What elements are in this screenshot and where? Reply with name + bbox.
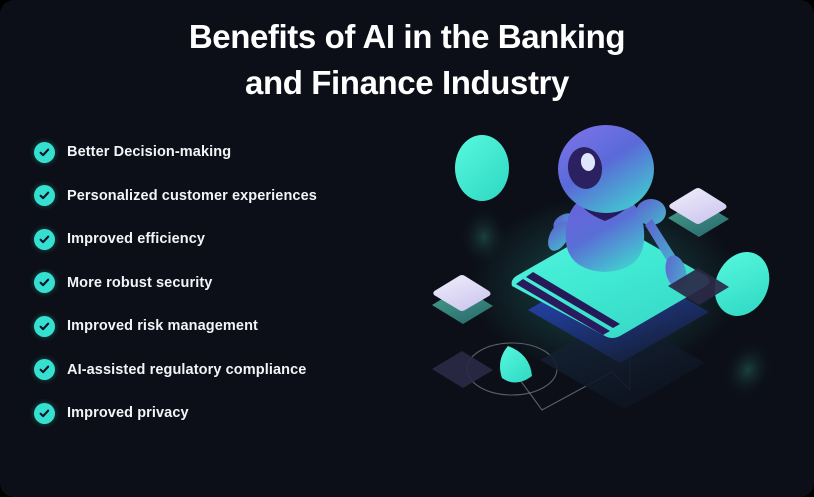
page-title: Benefits of AI in the Banking and Financ… <box>0 14 814 106</box>
benefit-label: More robust security <box>67 275 212 291</box>
benefit-label: AI-assisted regulatory compliance <box>67 362 306 378</box>
coin-top-left-reflection <box>459 206 509 268</box>
benefit-label: Improved privacy <box>67 405 189 421</box>
list-item: Improved efficiency <box>34 227 404 251</box>
check-circle-icon <box>34 272 55 293</box>
check-circle-icon <box>34 185 55 206</box>
benefit-label: Improved risk management <box>67 318 258 334</box>
list-item: Improved risk management <box>34 314 404 338</box>
check-circle-icon <box>34 229 55 250</box>
list-item: AI-assisted regulatory compliance <box>34 358 404 382</box>
list-item: Improved privacy <box>34 401 404 425</box>
title-line-1: Benefits of AI in the Banking <box>0 14 814 60</box>
check-circle-icon <box>34 142 55 163</box>
coin-top-left <box>455 135 509 268</box>
check-circle-icon <box>34 359 55 380</box>
tile-left-shadow <box>432 351 493 388</box>
coin-right-reflection <box>713 332 782 408</box>
benefit-label: Better Decision-making <box>67 144 231 160</box>
ai-robot-on-credit-card-illustration <box>420 120 814 480</box>
list-item: Personalized customer experiences <box>34 184 404 208</box>
benefits-list: Better Decision-making Personalized cust… <box>34 140 404 445</box>
benefit-label: Personalized customer experiences <box>67 188 317 204</box>
benefit-label: Improved efficiency <box>67 231 205 247</box>
infographic-canvas: Benefits of AI in the Banking and Financ… <box>0 0 814 497</box>
list-item: Better Decision-making <box>34 140 404 164</box>
stacked-tile-left <box>432 275 493 388</box>
list-item: More robust security <box>34 271 404 295</box>
title-line-2: and Finance Industry <box>0 60 814 106</box>
check-circle-icon <box>34 403 55 424</box>
check-circle-icon <box>34 316 55 337</box>
